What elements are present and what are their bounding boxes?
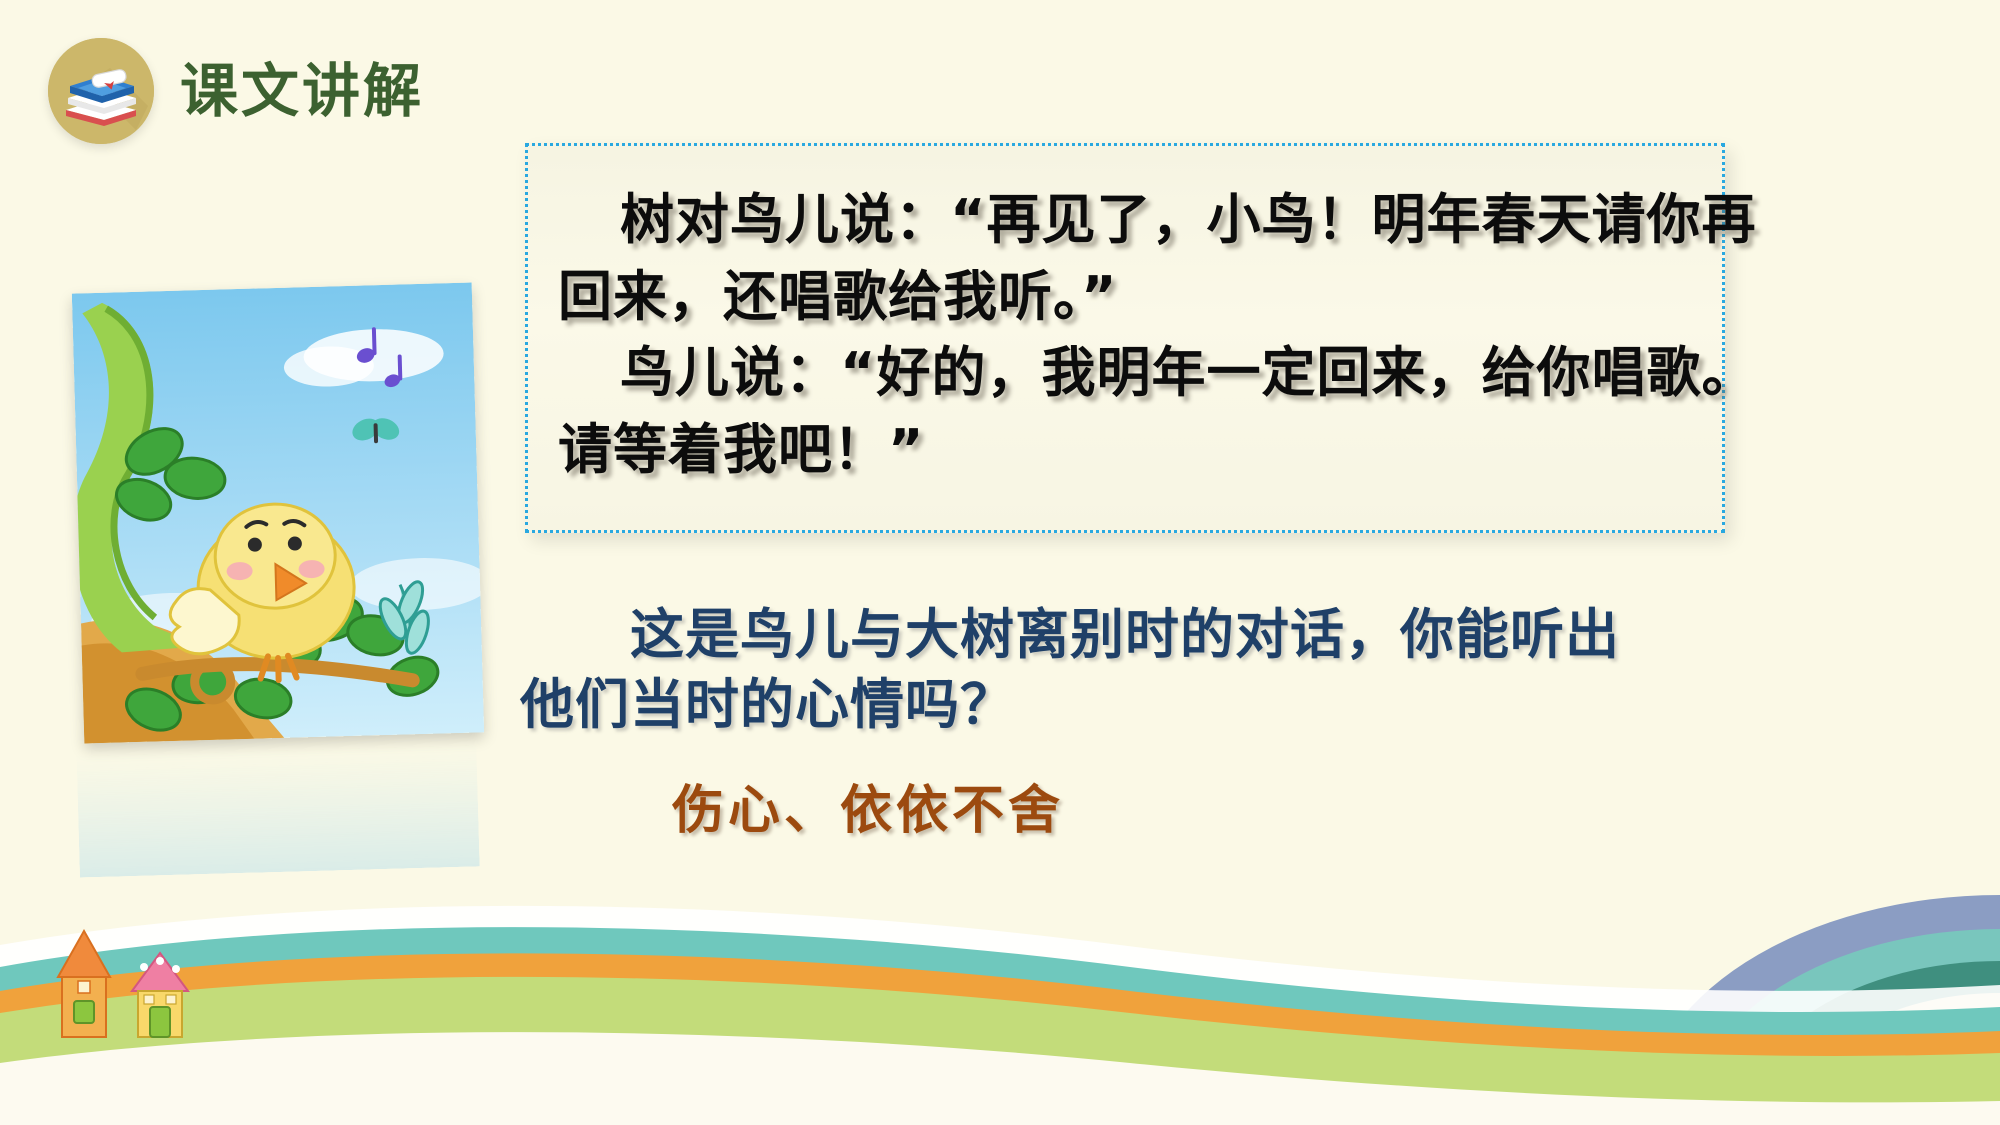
commentary-question: 这是鸟儿与大树离别时的对话，你能听出 他们当时的心情吗？ [520,600,1760,740]
illustration-wrap [78,288,478,872]
house-icons [48,925,228,1070]
slide-root: 课文讲解 [0,0,2000,1125]
dialogue-line-2: 回来，还唱歌给我听。” [558,259,1688,336]
dialogue-line-4: 请等着我吧！” [558,412,1688,489]
illustration-reflection [76,736,479,877]
house-orange [58,931,110,1037]
commentary-line-2: 他们当时的心情吗？ [520,670,1760,740]
dialogue-line-3: 鸟儿说：“好的，我明年一定回来，给你唱歌。 [558,335,1688,412]
dialogue-line-1: 树对鸟儿说：“再见了，小鸟！明年春天请你再 [558,182,1688,259]
house-pink [132,953,188,1037]
answer-text: 伤心、依依不舍 [672,768,1064,843]
bird-on-tree-picture [72,283,484,744]
commentary-line-1: 这是鸟儿与大树离别时的对话，你能听出 [520,600,1760,670]
page-title: 课文讲解 [180,62,424,120]
header: 课文讲解 [48,38,424,144]
books-diploma-icon [48,38,154,144]
dialogue-text-box: 树对鸟儿说：“再见了，小鸟！明年春天请你再 回来，还唱歌给我听。” 鸟儿说：“好… [525,143,1725,533]
